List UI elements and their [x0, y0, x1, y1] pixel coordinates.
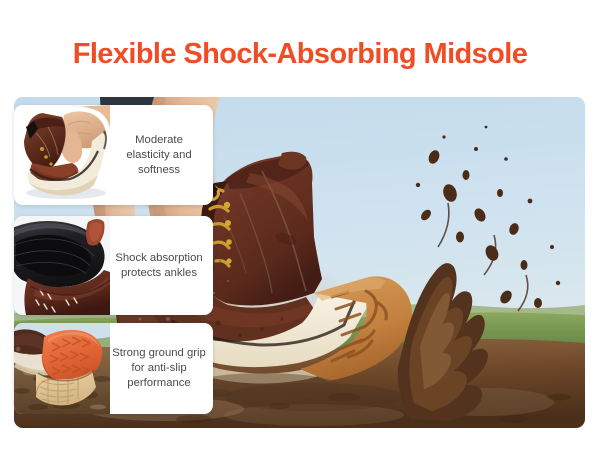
outsole-tread-illustration: [14, 323, 110, 414]
feature-card-shock-absorption[interactable]: Shock absorption protects ankles: [14, 216, 213, 315]
feature-card-label: Moderate elasticity and softness: [110, 133, 213, 178]
feature-card-elasticity[interactable]: Moderate elasticity and softness: [14, 105, 213, 205]
promo-banner: Flexible Shock-Absorbing Midsole: [0, 0, 600, 450]
padded-ankle-collar-thumbnail: [14, 216, 110, 315]
padded-collar-illustration: [14, 216, 110, 315]
heel-pull-tab: [278, 152, 306, 170]
orange-outsole-tread-thumbnail: [14, 323, 110, 414]
feature-card-label: Shock absorption protects ankles: [110, 251, 213, 281]
page-title: Flexible Shock-Absorbing Midsole: [0, 38, 600, 71]
feature-card-label: Strong ground grip for anti-slip perform…: [110, 346, 213, 391]
feature-card-anti-slip[interactable]: Strong ground grip for anti-slip perform…: [14, 323, 213, 414]
hand-flexing-boot-thumbnail: [14, 105, 110, 205]
hand-flexing-boot-illustration: [14, 105, 110, 205]
